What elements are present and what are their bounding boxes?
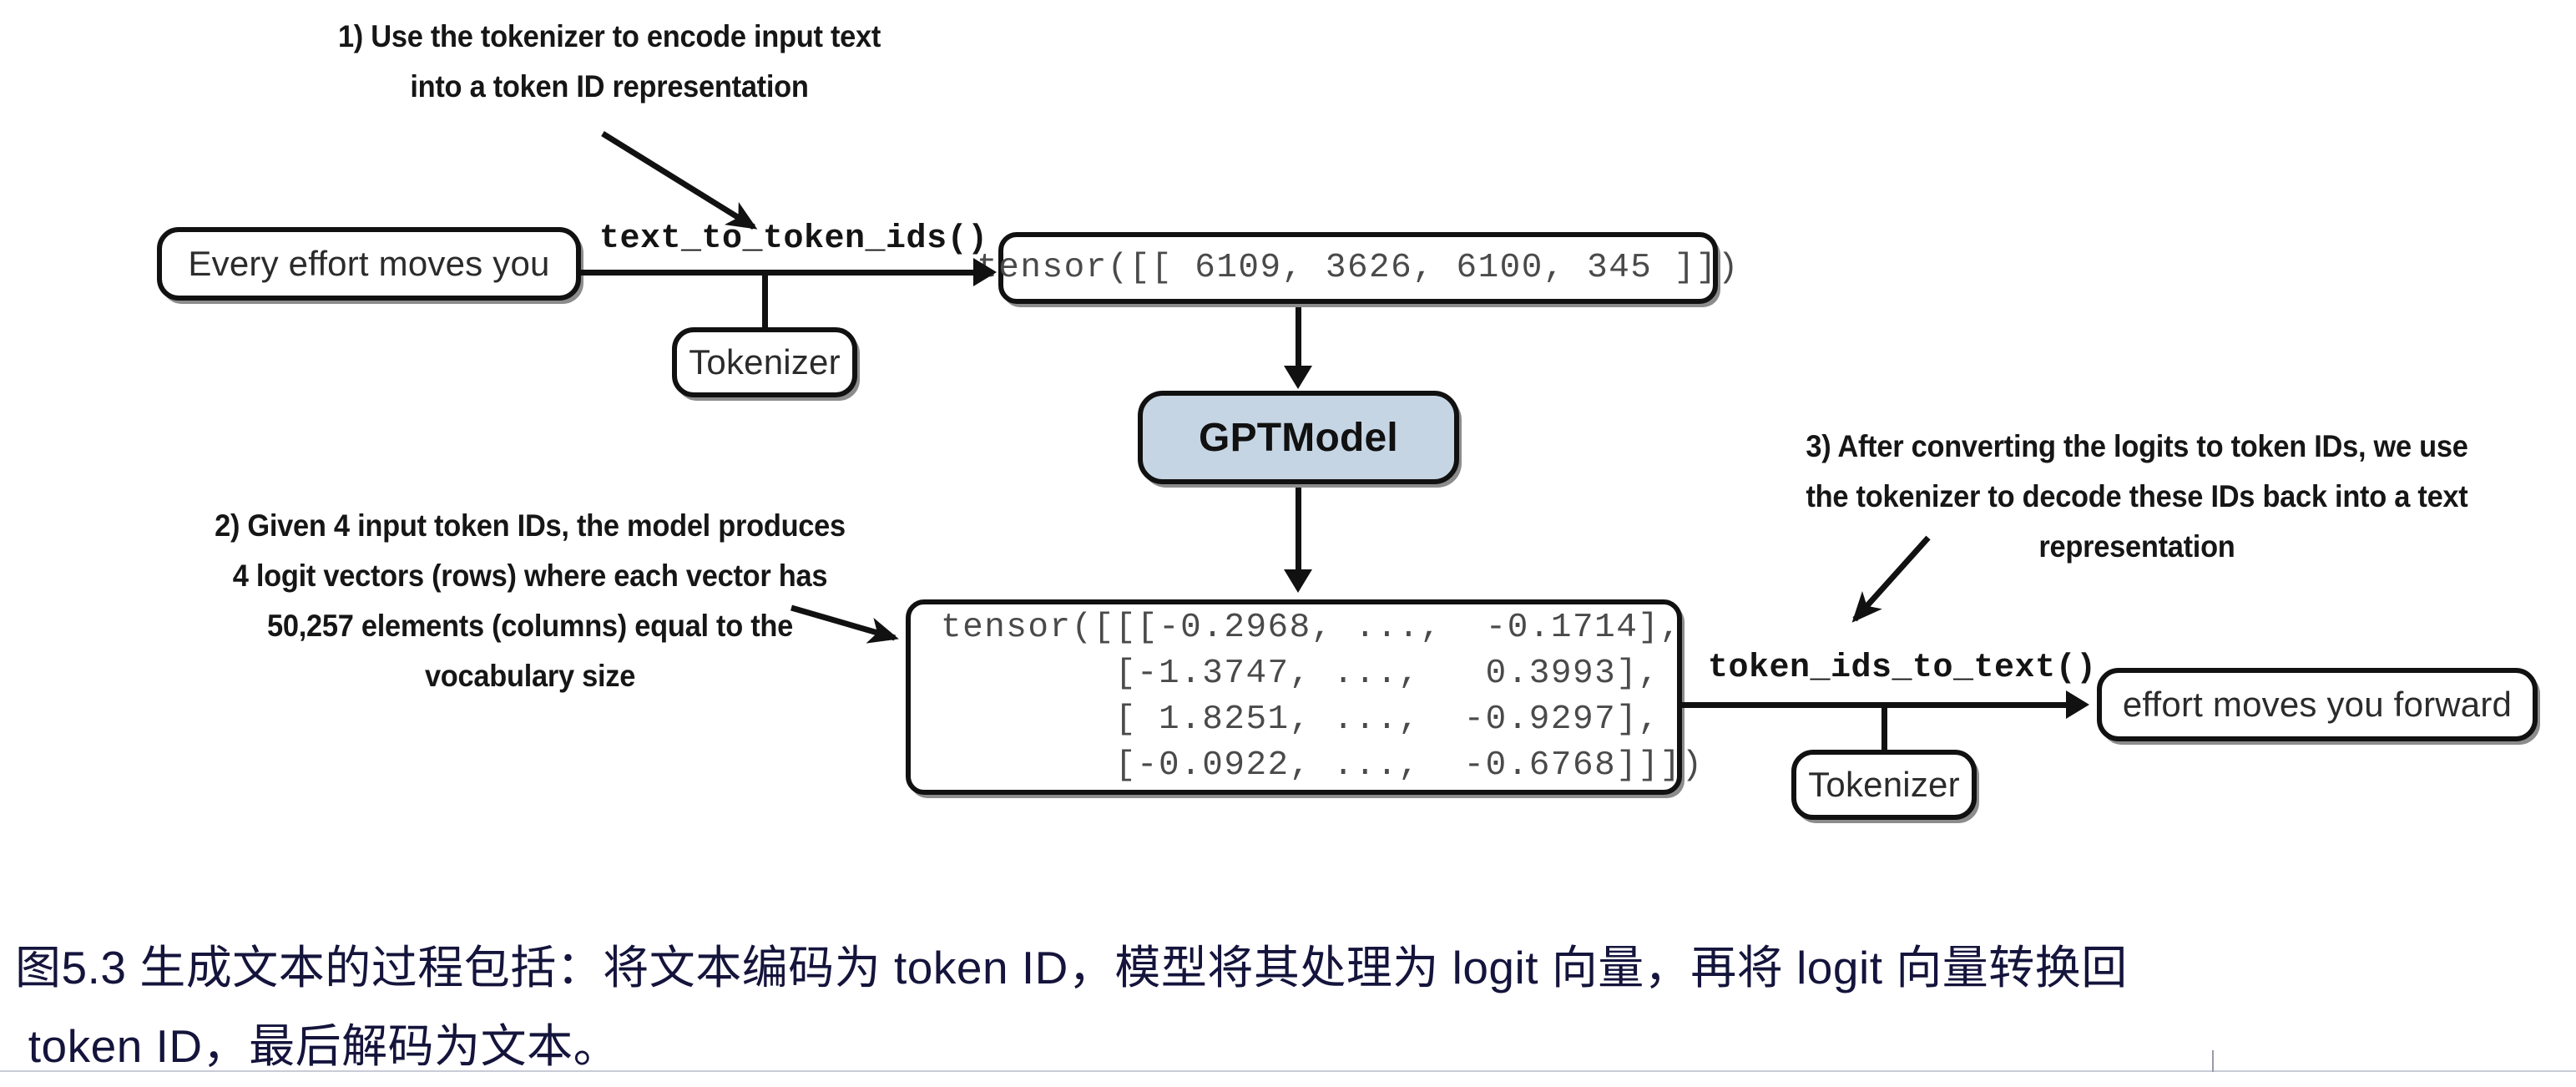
arrowhead-tokenids-to-model [1284,366,1312,389]
node-tokenizer-decode[interactable]: Tokenizer [1791,750,1977,820]
diagonal-arrow-step-1 [603,134,754,227]
edge-label-text-to-token-ids: text_to_token_ids() [599,220,988,258]
node-input-text[interactable]: Every effort moves you [157,227,581,301]
page-bottom-hairline [0,1070,2576,1072]
arrowhead-logits-to-output [2066,690,2089,719]
annotation-step-2: 2) Given 4 input token IDs, the model pr… [212,501,849,701]
connector-tokenizer-encode-stem [762,270,768,328]
node-token-ids-tensor-label: tensor([[ 6109, 3626, 6100, 345 ]]) [977,245,1740,291]
node-tokenizer-decode-label: Tokenizer [1808,765,1960,805]
figure-page: 1) Use the tokenizer to encode input tex… [0,0,2576,1087]
node-token-ids-tensor[interactable]: tensor([[ 6109, 3626, 6100, 345 ]]) [998,232,1718,304]
connector-model-to-logits [1296,488,1301,571]
node-logits-tensor[interactable]: tensor([[[-0.2968, ..., -0.1714], [-1.37… [906,599,1682,795]
node-input-text-label: Every effort moves you [188,244,549,284]
node-logits-tensor-label: tensor([[[-0.2968, ..., -0.1714], [-1.37… [941,605,1704,789]
node-tokenizer-encode[interactable]: Tokenizer [672,327,857,397]
connector-logits-to-output [1682,702,2068,708]
figure-caption-line-1: 图5.3 生成文本的过程包括：将文本编码为 token ID，模型将其处理为 l… [15,933,2561,1004]
node-gpt-model-label: GPTModel [1199,415,1398,461]
connector-input-to-tokenids [581,270,975,276]
annotation-step-1: 1) Use the tokenizer to encode input tex… [338,12,881,112]
connector-tokenizer-decode-stem [1881,702,1887,752]
annotation-step-3: 3) After converting the logits to token … [1788,422,2487,572]
page-bottom-tick [2212,1050,2214,1072]
arrowhead-model-to-logits [1284,569,1312,593]
node-gpt-model[interactable]: GPTModel [1138,391,1459,484]
edge-label-token-ids-to-text: token_ids_to_text() [1708,650,2097,687]
node-output-text-label: effort moves you forward [2123,685,2512,725]
node-tokenizer-encode-label: Tokenizer [689,342,841,382]
arrowhead-input-to-tokenids [973,258,997,286]
node-output-text[interactable]: effort moves you forward [2097,668,2538,741]
connector-tokenids-to-model [1296,307,1301,367]
